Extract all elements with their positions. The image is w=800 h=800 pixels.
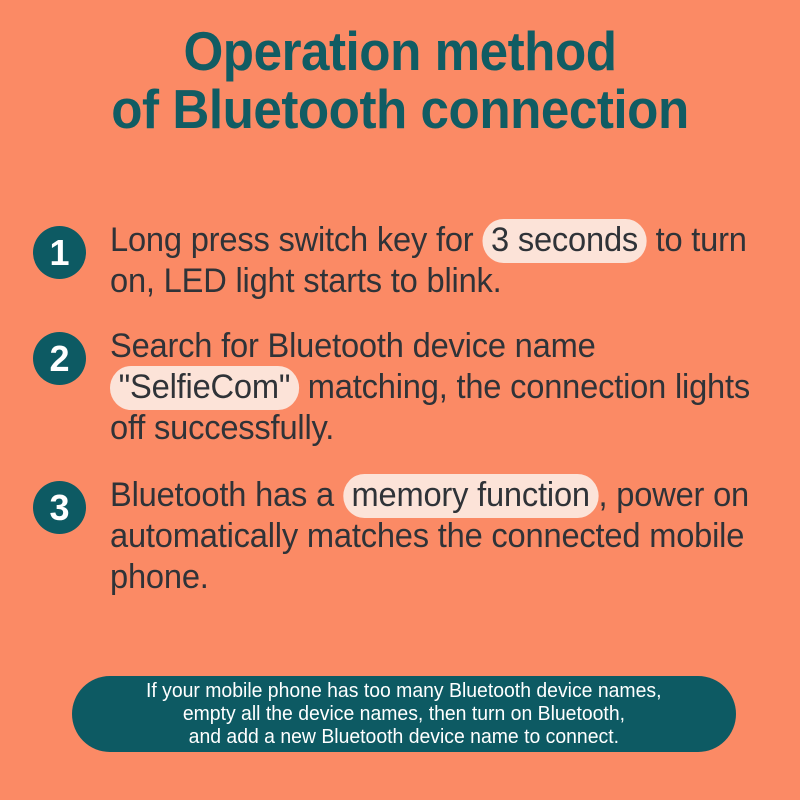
step-text-2-before: Search for Bluetooth device name [110, 327, 604, 365]
steps-list: 1 Long press switch key for 3 seconds to… [0, 220, 800, 598]
footer-note-line-1: If your mobile phone has too many Blueto… [146, 680, 661, 703]
page-title-line-1: Operation method [28, 22, 772, 80]
bluetooth-instruction-poster: Operation method of Bluetooth connection… [0, 0, 800, 800]
footer-note-box: If your mobile phone has too many Blueto… [72, 676, 736, 752]
step-highlight-1: 3 seconds [482, 219, 646, 263]
step-number-badge-3: 3 [33, 481, 86, 534]
step-item-1: 1 Long press switch key for 3 seconds to… [0, 220, 800, 302]
step-text-3: Bluetooth has a memory function, power o… [110, 475, 772, 598]
step-number-badge-1: 1 [33, 226, 86, 279]
step-highlight-2: "SelfieCom" [110, 366, 299, 410]
step-text-1-before: Long press switch key for [110, 221, 482, 259]
step-highlight-3: memory function [343, 474, 599, 518]
page-title-line-2: of Bluetooth connection [28, 80, 772, 138]
page-title: Operation method of Bluetooth connection [28, 22, 772, 138]
step-text-2: Search for Bluetooth device name "Selfie… [110, 326, 772, 449]
step-item-2: 2 Search for Bluetooth device name "Self… [0, 326, 800, 449]
step-text-3-before: Bluetooth has a [110, 476, 343, 514]
step-item-3: 3 Bluetooth has a memory function, power… [0, 475, 800, 598]
step-text-1: Long press switch key for 3 seconds to t… [110, 220, 772, 302]
step-number-badge-2: 2 [33, 332, 86, 385]
footer-note-line-2: empty all the device names, then turn on… [183, 703, 625, 726]
footer-note-line-3: and add a new Bluetooth device name to c… [189, 726, 619, 749]
